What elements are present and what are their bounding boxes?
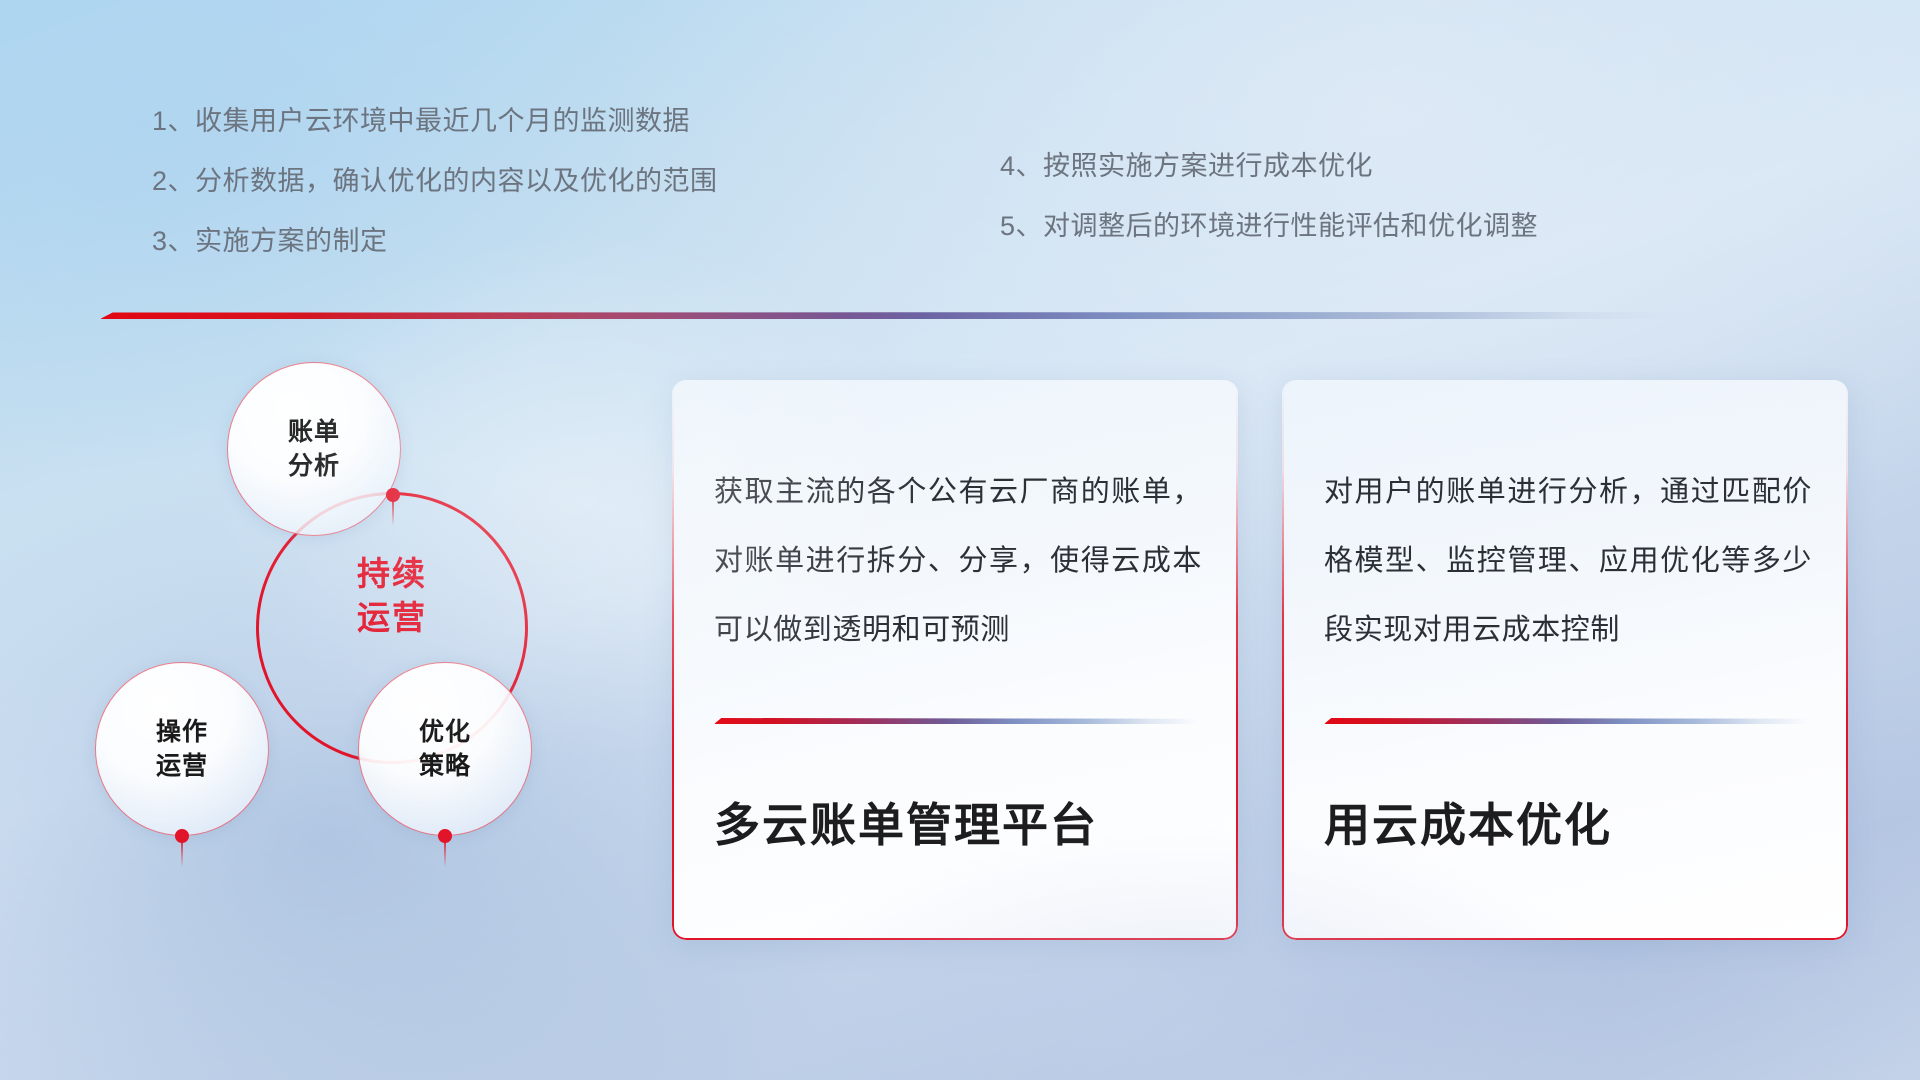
bubble-line-1: 优化 [419,715,471,750]
slide-canvas: 1、收集用户云环境中最近几个月的监测数据 2、分析数据，确认优化的内容以及优化的… [0,0,1920,1080]
feature-card-cloud-cost-optimization[interactable]: 对用户的账单进行分析，通过匹配价格模型、监控管理、应用优化等多少段实现对用云成本… [1282,380,1848,940]
bubble-optimization-strategy[interactable]: 优化 策略 [358,662,532,836]
step-item-2: 2、分析数据，确认优化的内容以及优化的范围 [152,168,718,195]
steps-column-left: 1、收集用户云环境中最近几个月的监测数据 2、分析数据，确认优化的内容以及优化的… [152,108,718,288]
bubble-line-1: 操作 [156,715,208,750]
card-body-text: 对用户的账单进行分析，通过匹配价格模型、监控管理、应用优化等多少段实现对用云成本… [1324,458,1812,665]
card-accent-rule [1324,718,1808,724]
bubble-bill-analysis[interactable]: 账单 分析 [227,362,401,536]
bubble-bill-analysis-text: 账单 分析 [288,415,340,484]
card-title: 用云成本优化 [1324,798,1812,853]
connector-tail-bottom-right [444,841,446,867]
steps-column-right: 4、按照实施方案进行成本优化 5、对调整后的环境进行性能评估和优化调整 [1000,153,1538,273]
node-dot-bottom-right-icon [438,829,452,843]
node-dot-top-icon [386,488,400,502]
step-item-3: 3、实施方案的制定 [152,228,718,255]
bubble-line-2: 策略 [419,749,471,784]
bubble-operations-text: 操作 运营 [156,715,208,784]
center-label-line-2: 运营 [256,596,528,640]
venn-diagram: 持续 运营 账单 分析 操作 运营 优化 策略 [100,352,660,952]
card-accent-rule [714,718,1198,724]
steps-section: 1、收集用户云环境中最近几个月的监测数据 2、分析数据，确认优化的内容以及优化的… [0,108,1920,288]
card-title: 多云账单管理平台 [714,798,1202,853]
connector-tail-bottom-left [181,841,183,867]
node-dot-bottom-left-icon [175,829,189,843]
card-body-text: 获取主流的各个公有云厂商的账单，对账单进行拆分、分享，使得云成本可以做到透明和可… [714,458,1202,665]
step-item-5: 5、对调整后的环境进行性能评估和优化调整 [1000,213,1538,240]
bubble-line-2: 分析 [288,449,340,484]
bubble-operations[interactable]: 操作 运营 [95,662,269,836]
center-label-line-1: 持续 [256,552,528,596]
connector-tail-top [392,500,394,526]
feature-card-multi-cloud-bill-platform[interactable]: 获取主流的各个公有云厂商的账单，对账单进行拆分、分享，使得云成本可以做到透明和可… [672,380,1238,940]
section-divider-rule [100,312,1680,319]
bubble-optimization-strategy-text: 优化 策略 [419,715,471,784]
bubble-line-2: 运营 [156,749,208,784]
step-item-1: 1、收集用户云环境中最近几个月的监测数据 [152,108,718,135]
diagram-center-label: 持续 运营 [256,552,528,639]
step-item-4: 4、按照实施方案进行成本优化 [1000,153,1538,180]
bubble-line-1: 账单 [288,415,340,450]
